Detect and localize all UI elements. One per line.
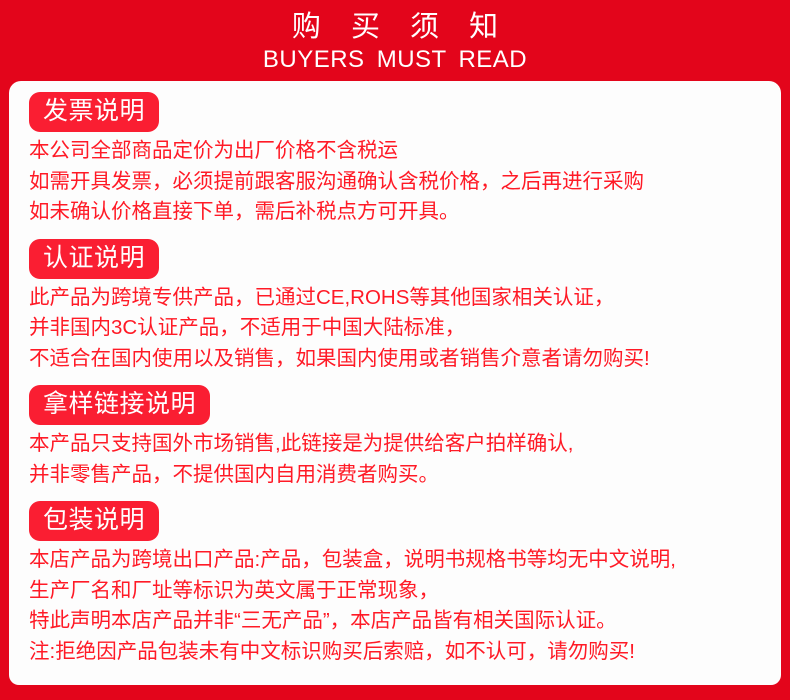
section-packaging: 包装说明 本店产品为跨境出口产品:产品，包装盒，说明书规格书等均无中文说明, 生… — [9, 501, 781, 667]
body-line: 本产品只支持国外市场销售,此链接是为提供给客户拍样确认, — [29, 429, 771, 460]
section-body-invoice: 本公司全部商品定价为出厂价格不含税运 如需开具发票，必须提前跟客服沟通确认含税价… — [29, 136, 781, 228]
body-line: 本店产品为跨境出口产品:产品，包装盒，说明书规格书等均无中文说明, — [29, 545, 771, 576]
section-badge-invoice: 发票说明 — [29, 92, 159, 132]
poster-header: 购 买 须 知 BUYERS MUST READ — [0, 0, 790, 81]
section-badge-sample-link: 拿样链接说明 — [29, 385, 210, 425]
section-badge-packaging: 包装说明 — [29, 501, 159, 541]
section-body-packaging: 本店产品为跨境出口产品:产品，包装盒，说明书规格书等均无中文说明, 生产厂名和厂… — [29, 545, 781, 667]
section-body-sample-link: 本产品只支持国外市场销售,此链接是为提供给客户拍样确认, 并非零售产品，不提供国… — [29, 429, 781, 490]
body-line: 如未确认价格直接下单，需后补税点方可开具。 — [29, 197, 771, 228]
body-line: 并非零售产品，不提供国内自用消费者购买。 — [29, 460, 771, 491]
section-invoice: 发票说明 本公司全部商品定价为出厂价格不含税运 如需开具发票，必须提前跟客服沟通… — [9, 92, 781, 228]
section-badge-certification: 认证说明 — [29, 239, 159, 279]
body-line: 本公司全部商品定价为出厂价格不含税运 — [29, 136, 771, 167]
section-body-certification: 此产品为跨境专供产品，已通过CE,ROHS等其他国家相关认证， 并非国内3C认证… — [29, 283, 781, 375]
page-title-cn: 购 买 须 知 — [281, 9, 509, 45]
section-certification: 认证说明 此产品为跨境专供产品，已通过CE,ROHS等其他国家相关认证， 并非国… — [9, 239, 781, 375]
body-line: 不适合在国内使用以及销售，如果国内使用或者销售介意者请勿购买! — [29, 344, 771, 375]
body-line: 如需开具发票，必须提前跟客服沟通确认含税价格，之后再进行采购 — [29, 167, 771, 198]
body-line: 特此声明本店产品并非“三无产品”，本店产品皆有相关国际认证。 — [29, 606, 771, 637]
page-title-en: BUYERS MUST READ — [263, 45, 527, 75]
body-line: 并非国内3C认证产品，不适用于中国大陆标准， — [29, 313, 771, 344]
buyers-must-read-poster: 购 买 须 知 BUYERS MUST READ 发票说明 本公司全部商品定价为… — [0, 0, 790, 700]
body-line: 注:拒绝因产品包装未有中文标识购买后索赔，如不认可，请勿购买! — [29, 637, 771, 668]
notice-card: 发票说明 本公司全部商品定价为出厂价格不含税运 如需开具发票，必须提前跟客服沟通… — [9, 81, 781, 685]
body-line: 此产品为跨境专供产品，已通过CE,ROHS等其他国家相关认证， — [29, 283, 771, 314]
section-sample-link: 拿样链接说明 本产品只支持国外市场销售,此链接是为提供给客户拍样确认, 并非零售… — [9, 385, 781, 490]
body-line: 生产厂名和厂址等标识为英文属于正常现象， — [29, 576, 771, 607]
